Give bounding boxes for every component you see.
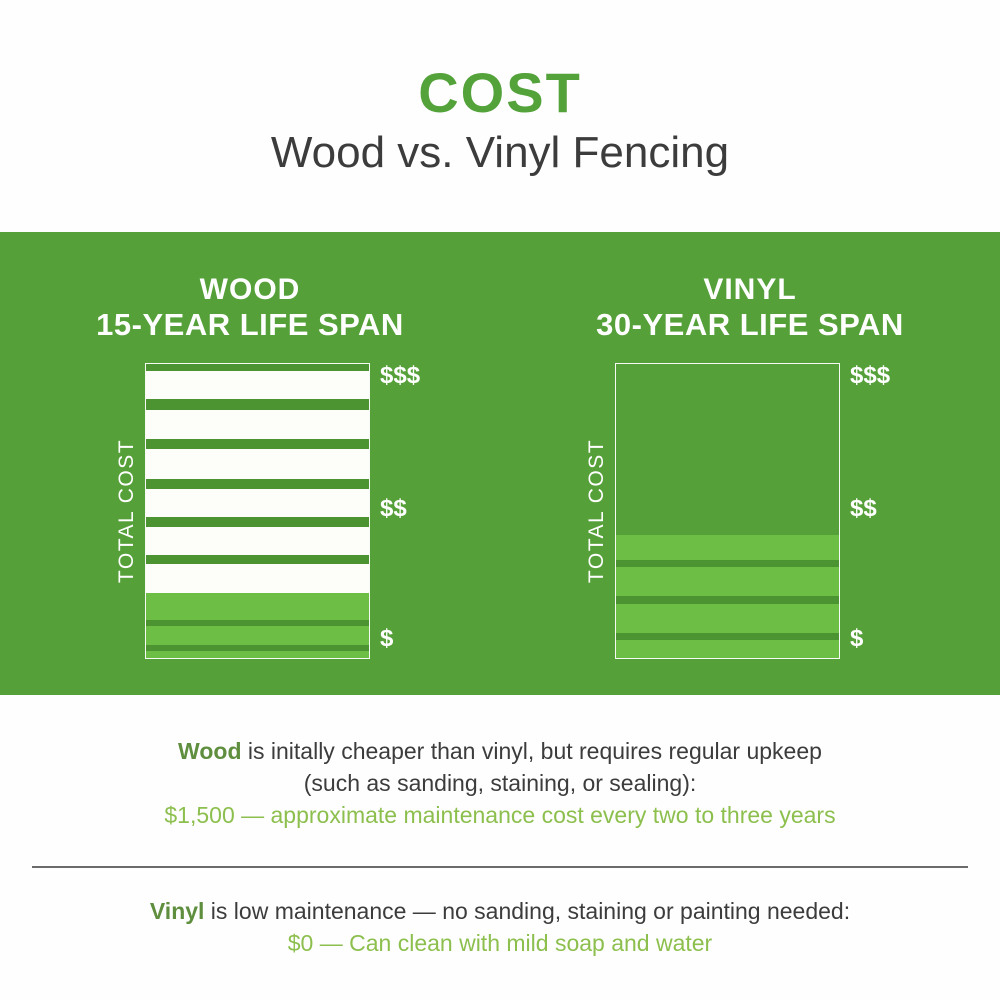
page-title: COST bbox=[0, 60, 1000, 125]
note-wood-keyword: Wood bbox=[178, 738, 241, 764]
wood-band-4 bbox=[146, 439, 369, 449]
note-wood: Wood is initally cheaper than vinyl, but… bbox=[0, 735, 1000, 831]
tick-label-wood-3: $$$ bbox=[380, 362, 420, 390]
vinyl-band-6 bbox=[616, 640, 839, 658]
tick-label-wood-1: $ bbox=[380, 625, 393, 653]
vinyl-band-5 bbox=[616, 633, 839, 640]
vinyl-band-0 bbox=[616, 535, 839, 560]
vinyl-band-4 bbox=[616, 604, 839, 633]
note-wood-line1: Wood is initally cheaper than vinyl, but… bbox=[0, 735, 1000, 767]
axis-label-vinyl: TOTAL COST bbox=[584, 363, 610, 659]
panel-lifespan-wood: 15-YEAR LIFE SPAN bbox=[0, 309, 500, 342]
infographic-page: COST Wood vs. Vinyl Fencing WOOD 15-YEAR… bbox=[0, 0, 1000, 1000]
tick-label-vinyl-2: $$ bbox=[850, 495, 877, 523]
chart-panel-wood: WOOD 15-YEAR LIFE SPAN TOTAL COST $$$ $$… bbox=[0, 232, 500, 695]
wood-band-10 bbox=[146, 555, 369, 564]
tick-label-vinyl-3: $$$ bbox=[850, 362, 890, 390]
wood-band-3 bbox=[146, 410, 369, 439]
wood-band-14 bbox=[146, 626, 369, 645]
note-vinyl-line1: Vinyl is low maintenance — no sanding, s… bbox=[0, 895, 1000, 927]
vinyl-band-3 bbox=[616, 596, 839, 603]
section-divider bbox=[32, 866, 968, 868]
note-vinyl-line1-rest: is low maintenance — no sanding, stainin… bbox=[204, 898, 850, 924]
wood-band-8 bbox=[146, 517, 369, 527]
tick-label-vinyl-1: $ bbox=[850, 625, 863, 653]
wood-band-11 bbox=[146, 564, 369, 593]
wood-band-12 bbox=[146, 593, 369, 619]
wood-band-1 bbox=[146, 371, 369, 399]
wood-band-5 bbox=[146, 449, 369, 478]
wood-band-0 bbox=[146, 364, 369, 371]
plot-area-vinyl bbox=[615, 363, 840, 659]
vinyl-band-2 bbox=[616, 567, 839, 596]
panel-heading-wood: WOOD 15-YEAR LIFE SPAN bbox=[0, 274, 500, 341]
note-wood-line2: (such as sanding, staining, or sealing): bbox=[0, 767, 1000, 799]
chart-panel-vinyl: VINYL 30-YEAR LIFE SPAN TOTAL COST $$$ $… bbox=[500, 232, 1000, 695]
title-block: COST Wood vs. Vinyl Fencing bbox=[0, 0, 1000, 232]
panel-lifespan-vinyl: 30-YEAR LIFE SPAN bbox=[500, 309, 1000, 342]
note-vinyl: Vinyl is low maintenance — no sanding, s… bbox=[0, 895, 1000, 959]
note-vinyl-keyword: Vinyl bbox=[150, 898, 205, 924]
note-wood-line1-rest: is initally cheaper than vinyl, but requ… bbox=[242, 738, 822, 764]
note-wood-cost: $1,500 — approximate maintenance cost ev… bbox=[0, 799, 1000, 831]
page-subtitle: Wood vs. Vinyl Fencing bbox=[0, 128, 1000, 178]
wood-band-6 bbox=[146, 479, 369, 489]
chart-banner: WOOD 15-YEAR LIFE SPAN TOTAL COST $$$ $$… bbox=[0, 232, 1000, 695]
panel-material-wood: WOOD bbox=[0, 274, 500, 306]
wood-band-16 bbox=[146, 651, 369, 658]
wood-band-7 bbox=[146, 489, 369, 517]
wood-band-9 bbox=[146, 527, 369, 555]
note-vinyl-cost: $0 — Can clean with mild soap and water bbox=[0, 927, 1000, 959]
vinyl-band-1 bbox=[616, 560, 839, 567]
wood-band-2 bbox=[146, 399, 369, 409]
tick-label-wood-2: $$ bbox=[380, 495, 407, 523]
plot-area-wood bbox=[145, 363, 370, 659]
notes-section: Wood is initally cheaper than vinyl, but… bbox=[0, 695, 1000, 1000]
panel-heading-vinyl: VINYL 30-YEAR LIFE SPAN bbox=[500, 274, 1000, 341]
panel-material-vinyl: VINYL bbox=[500, 274, 1000, 306]
axis-label-wood: TOTAL COST bbox=[114, 363, 140, 659]
